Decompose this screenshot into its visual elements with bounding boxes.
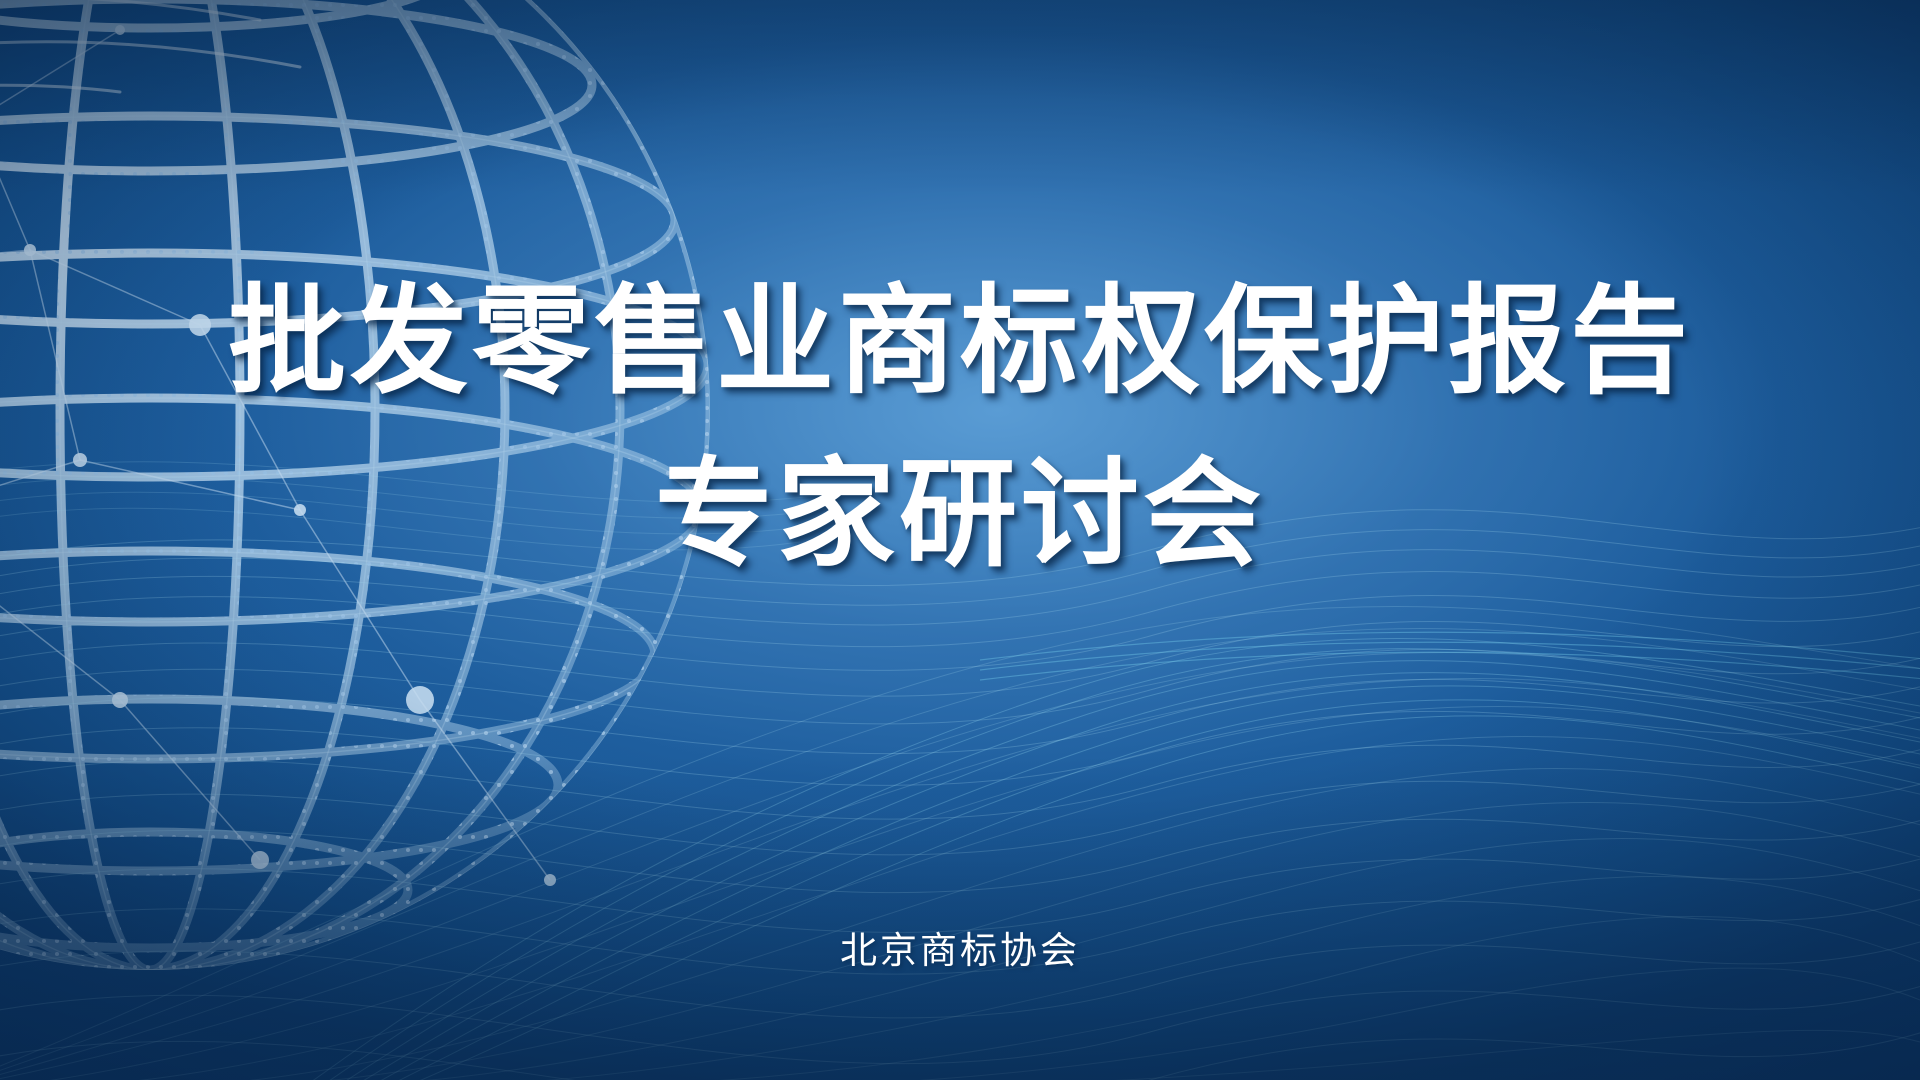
presentation-slide: 批发零售业商标权保护报告 专家研讨会 北京商标协会 <box>0 0 1920 1080</box>
organization-name: 北京商标协会 <box>0 920 1920 974</box>
slide-title-line-2: 专家研讨会 <box>655 435 1265 594</box>
slide-title-line-1: 批发零售业商标权保护报告 <box>228 262 1692 421</box>
title-block: 批发零售业商标权保护报告 专家研讨会 <box>0 0 1920 1080</box>
